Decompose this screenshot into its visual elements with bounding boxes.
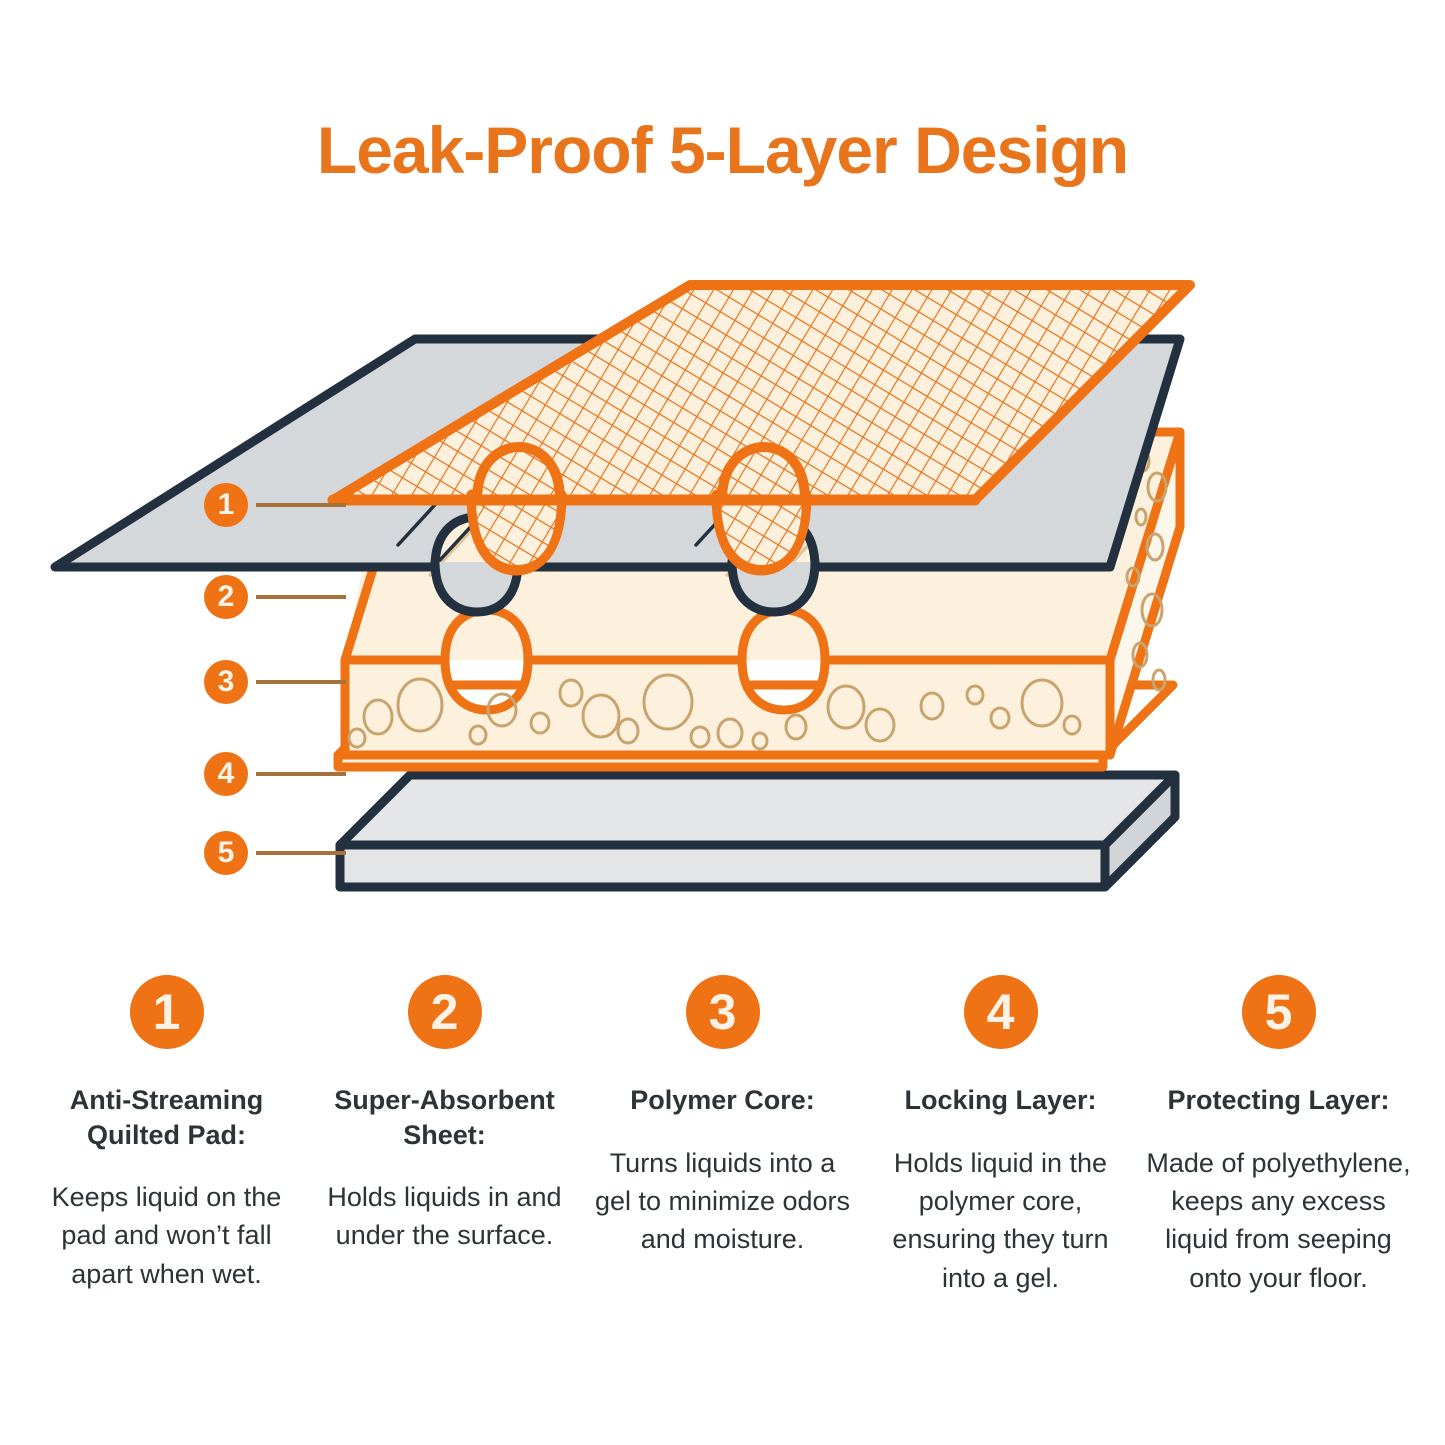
callout-3-line [256,680,346,684]
callout-4-number: 4 [204,752,248,796]
legend-body-3: Turns liquids into a gel to minimize odo… [590,1144,856,1259]
legend-title-2: Super-Absorbent Sheet: [312,1083,578,1152]
callout-1[interactable]: 1 [204,483,346,527]
callout-2-line [256,595,346,599]
legend-column-3: 3 Polymer Core: Turns liquids into a gel… [584,975,862,1259]
callout-1-line [256,503,346,507]
legend-column-2: 2 Super-Absorbent Sheet: Holds liquids i… [306,975,584,1255]
layer-5-protecting-layer [340,775,1175,887]
callout-5[interactable]: 5 [204,831,346,875]
callout-3-number: 3 [204,660,248,704]
legend-title-3: Polymer Core: [630,1083,815,1118]
legend-body-1: Keeps liquid on the pad and won’t fall a… [34,1178,300,1293]
legend-body-4: Holds liquid in the polymer core, ensuri… [868,1144,1134,1297]
callout-5-line [256,851,346,855]
legend-badge-4: 4 [964,975,1038,1049]
legend-badge-5: 5 [1242,975,1316,1049]
legend-column-1: 1 Anti-Streaming Quilted Pad: Keeps liqu… [28,975,306,1293]
legend-badge-1: 1 [130,975,204,1049]
layer-diagram: 1 2 3 4 5 [0,255,1445,915]
callout-2-number: 2 [204,575,248,619]
callout-3[interactable]: 3 [204,660,346,704]
callout-5-number: 5 [204,831,248,875]
legend-title-4: Locking Layer: [904,1083,1096,1118]
callout-2[interactable]: 2 [204,575,346,619]
legend-column-5: 5 Protecting Layer: Made of polyethylene… [1140,975,1418,1297]
layer-legend: 1 Anti-Streaming Quilted Pad: Keeps liqu… [0,975,1445,1297]
legend-title-5: Protecting Layer: [1167,1083,1389,1118]
callout-4-line [256,772,346,776]
page-title: Leak-Proof 5-Layer Design [0,112,1445,188]
legend-column-4: 4 Locking Layer: Holds liquid in the pol… [862,975,1140,1297]
legend-title-1: Anti-Streaming Quilted Pad: [34,1083,300,1152]
legend-badge-2: 2 [408,975,482,1049]
legend-body-5: Made of polyethylene, keeps any excess l… [1146,1144,1412,1297]
legend-badge-3: 3 [686,975,760,1049]
callout-1-number: 1 [204,483,248,527]
legend-body-2: Holds liquids in and under the surface. [312,1178,578,1255]
callout-4[interactable]: 4 [204,752,346,796]
